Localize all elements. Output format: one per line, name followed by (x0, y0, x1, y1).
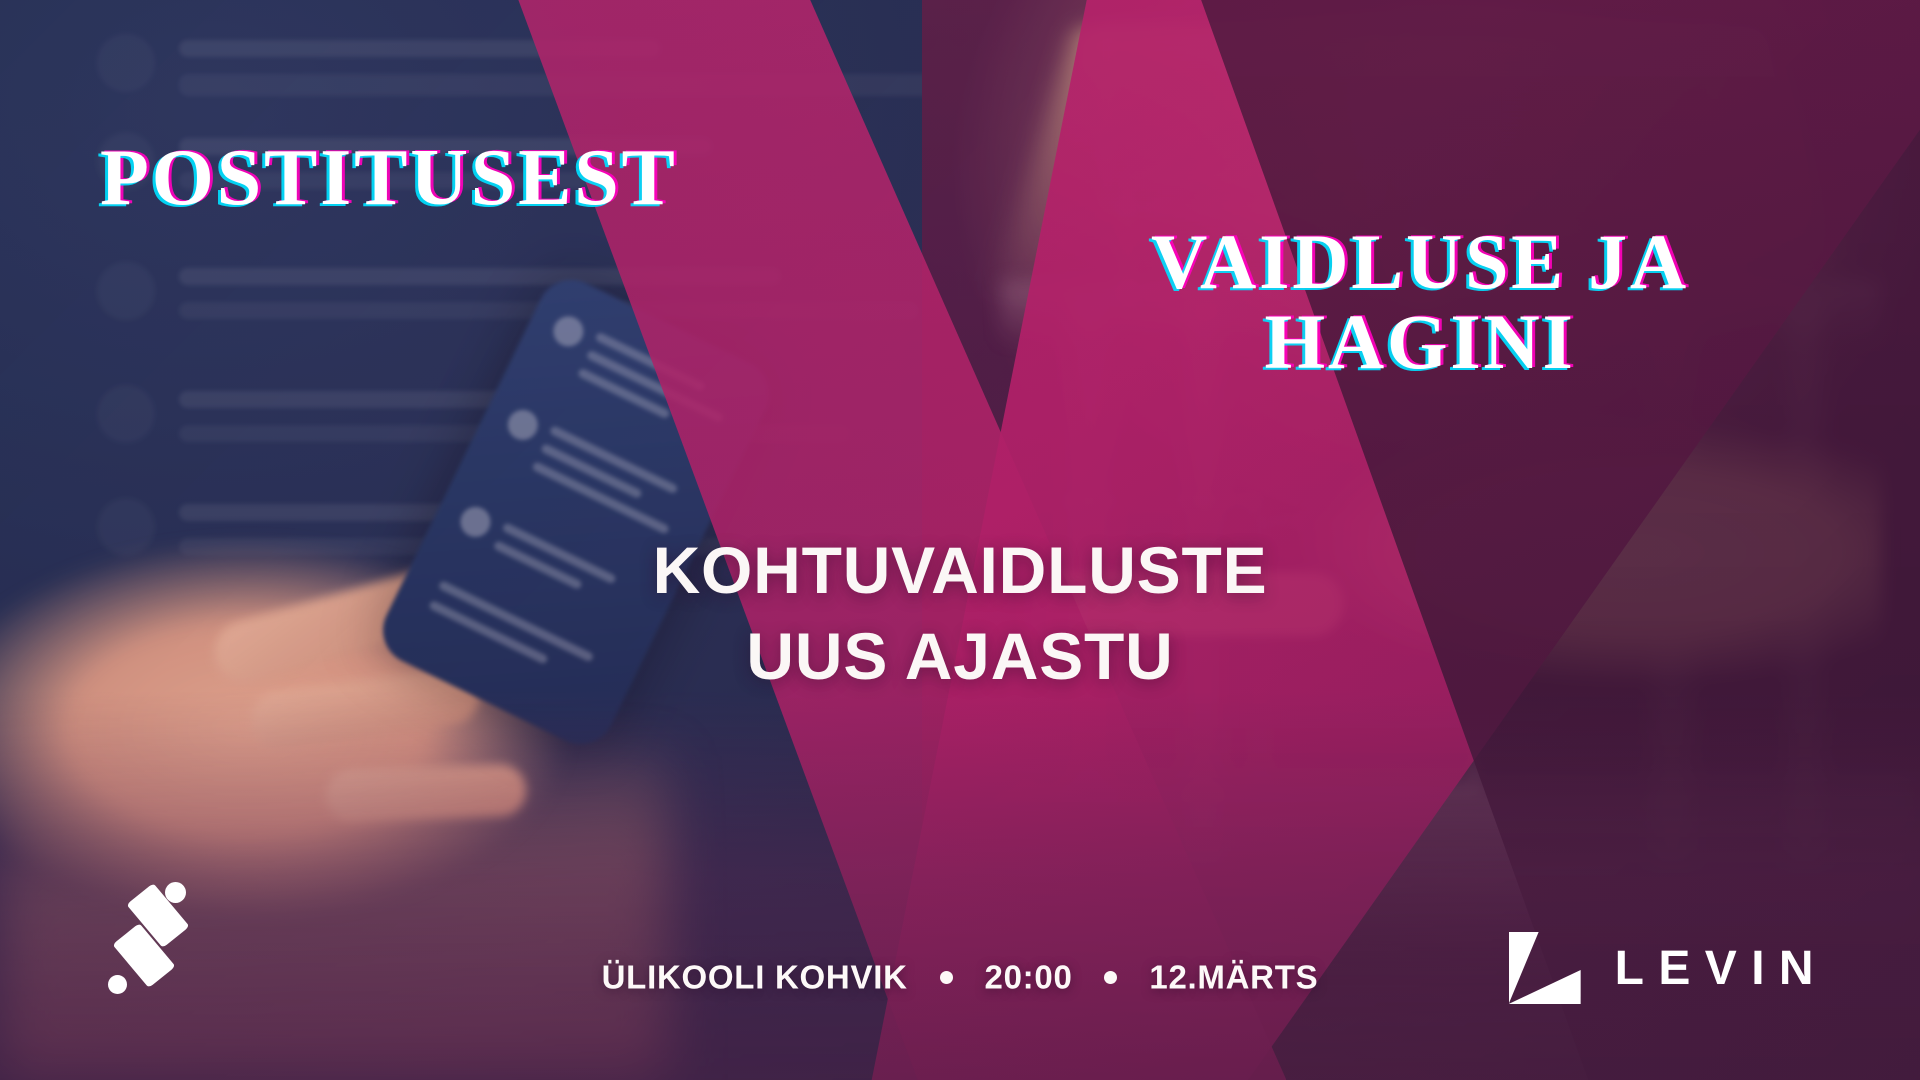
headline-left: POSTITUSEST (100, 138, 678, 220)
bullet-separator-icon (940, 971, 953, 984)
subtitle-line-1: KOHTUVAIDLUSTE (0, 528, 1920, 614)
subtitle-line-2: UUS AJASTU (0, 614, 1920, 700)
poster-content: POSTITUSEST VAIDLUSE JA HAGINI KOHTUVAID… (0, 0, 1920, 1080)
event-date: 12.MÄRTS (1149, 958, 1318, 995)
event-venue: ÜLIKOOLI KOHVIK (602, 958, 908, 995)
event-time: 20:00 (985, 958, 1073, 995)
logo-dot-top-icon (165, 882, 186, 903)
secondary-logo-mark (108, 882, 188, 994)
bullet-separator-icon (1104, 971, 1117, 984)
levin-logo: LEVIN (1509, 932, 1828, 1004)
event-poster: POSTITUSEST VAIDLUSE JA HAGINI KOHTUVAID… (0, 0, 1920, 1080)
logo-dot-bottom-icon (108, 975, 127, 994)
headline-right-line-2: HAGINI (1110, 302, 1730, 382)
subtitle: KOHTUVAIDLUSTE UUS AJASTU (0, 528, 1920, 700)
levin-l-mark-icon (1509, 932, 1581, 1004)
levin-wordmark: LEVIN (1615, 941, 1828, 996)
headline-right: VAIDLUSE JA HAGINI (1110, 222, 1730, 381)
headline-right-line-1: VAIDLUSE JA (1110, 222, 1730, 302)
